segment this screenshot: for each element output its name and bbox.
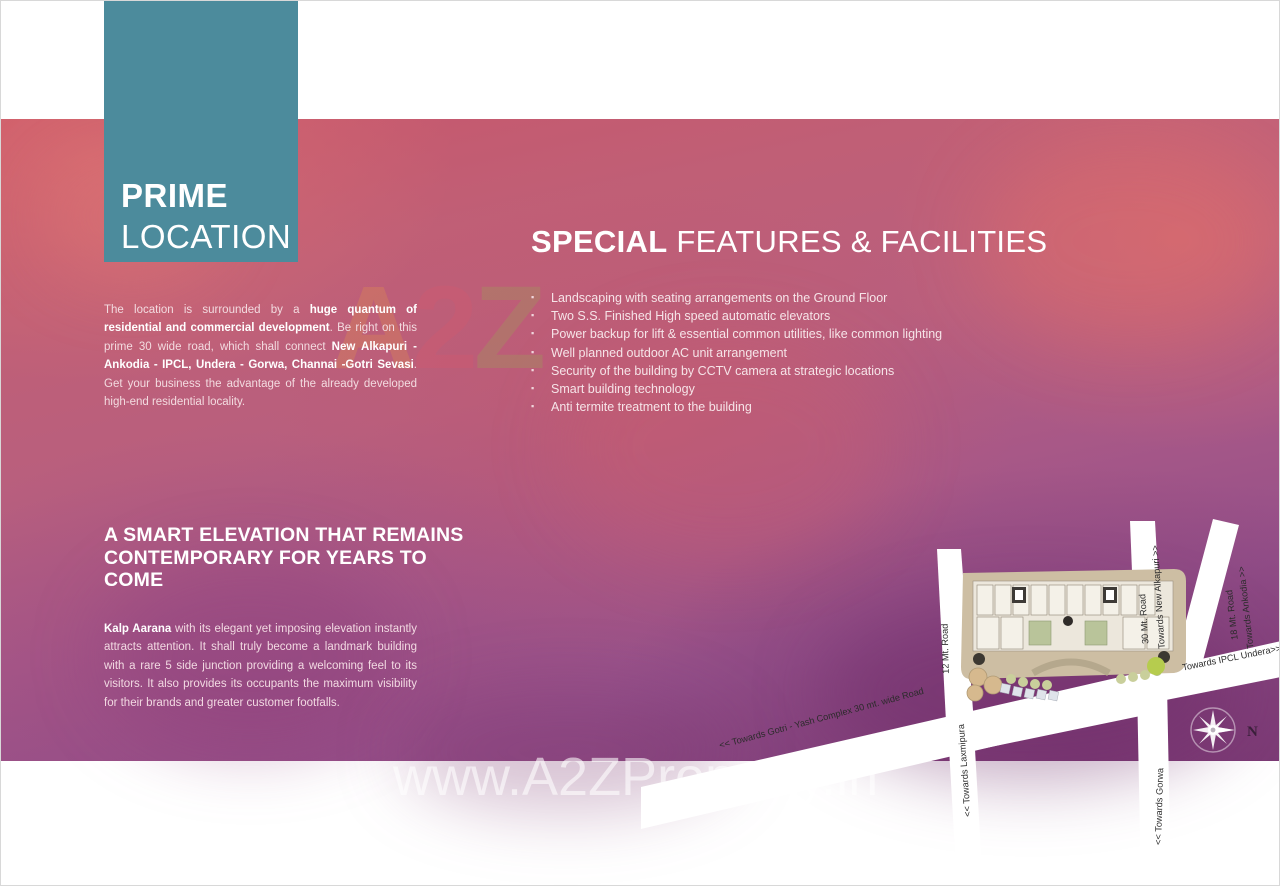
list-item: Security of the building by CCTV camera … (529, 362, 1089, 380)
list-item: Two S.S. Finished High speed automatic e… (529, 307, 1089, 325)
label-towards-gorwa: << Towards Gorwa (1153, 767, 1165, 845)
special-features-title-bold: SPECIAL (531, 224, 667, 259)
special-features-list: Landscaping with seating arrangements on… (529, 289, 1089, 416)
location-map: 12 Mt. Road 30 Mt. Road Towards New Alka… (641, 501, 1280, 886)
special-features-title-light: FEATURES & FACILITIES (667, 224, 1047, 259)
prime-location-title-line1: PRIME (121, 179, 301, 212)
prime-location-paragraph: The location is surrounded by a huge qua… (104, 301, 417, 412)
label-12mt-road: 12 Mt. Road (940, 624, 951, 674)
smart-body-post: with its elegant yet imposing elevation … (104, 623, 417, 709)
smart-elevation-title: A SMART ELEVATION THAT REMAINS CONTEMPOR… (104, 524, 474, 592)
list-item: Smart building technology (529, 380, 1089, 398)
list-item: Well planned outdoor AC unit arrangement (529, 344, 1089, 362)
prime-location-title: PRIME LOCATION (121, 179, 301, 253)
prime-body-pre: The location is surrounded by a (104, 304, 310, 316)
smart-body-bold: Kalp Aarana (104, 623, 171, 635)
smart-elevation-paragraph: Kalp Aarana with its elegant yet imposin… (104, 620, 417, 713)
list-item: Anti termite treatment to the building (529, 398, 1089, 416)
list-item: Landscaping with seating arrangements on… (529, 289, 1089, 307)
prime-location-title-line2: LOCATION (121, 220, 301, 253)
list-item: Power backup for lift & essential common… (529, 325, 1089, 343)
label-18mt-road-line1: 18 Mt. Road (1224, 589, 1240, 640)
compass-icon (1191, 708, 1235, 752)
special-features-title: SPECIAL FEATURES & FACILITIES (531, 224, 1047, 260)
compass-north-label: N (1247, 724, 1258, 740)
site-marker (1147, 657, 1165, 675)
brochure-page: A2Z PRIME LOCATION The location is surro… (0, 0, 1280, 886)
